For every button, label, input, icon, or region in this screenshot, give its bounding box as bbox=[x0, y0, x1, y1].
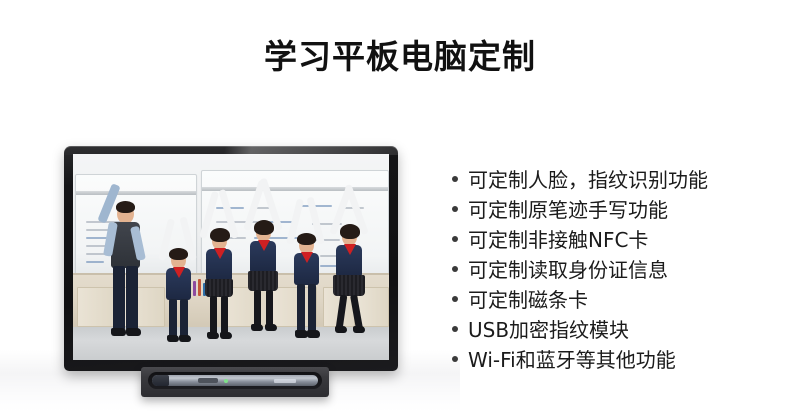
stylus-led-indicator bbox=[224, 379, 228, 383]
whiteboard-rail bbox=[202, 187, 388, 191]
bullet-dot-icon bbox=[452, 266, 458, 272]
list-item: 可定制磁条卡 bbox=[452, 285, 796, 315]
teacher-shoe-right bbox=[126, 328, 141, 336]
list-item: 可定制读取身份证信息 bbox=[452, 255, 796, 285]
student-leg-left bbox=[254, 290, 261, 326]
student-leg-right bbox=[308, 284, 316, 332]
student-hair bbox=[254, 220, 274, 235]
student-leg-right bbox=[180, 299, 188, 337]
stylus-button[interactable] bbox=[198, 378, 218, 383]
teacher-hair bbox=[116, 201, 135, 213]
student-shoe-right bbox=[307, 330, 320, 338]
person-student-1 bbox=[161, 246, 195, 346]
bullet-dot-icon bbox=[452, 176, 458, 182]
student-hair bbox=[210, 228, 230, 242]
student-hair bbox=[169, 248, 188, 260]
device-screen[interactable] bbox=[73, 154, 389, 360]
bullet-dot-icon bbox=[452, 356, 458, 362]
person-student-5 bbox=[331, 220, 367, 344]
page-title: 学习平板电脑定制 bbox=[0, 36, 800, 78]
student-leg-left bbox=[169, 299, 177, 337]
feature-label: 可定制磁条卡 bbox=[468, 285, 588, 315]
device-stand[interactable] bbox=[141, 367, 329, 397]
student-leg-left bbox=[210, 296, 217, 334]
student-shoe-left bbox=[207, 332, 219, 339]
person-student-3 bbox=[245, 216, 281, 342]
list-item: 可定制原笔迹手写功能 bbox=[452, 195, 796, 225]
student-shoe-right bbox=[265, 324, 277, 331]
list-item: USB加密指纹模块 bbox=[452, 315, 796, 345]
student-skirt bbox=[248, 271, 278, 291]
teacher-leg-right bbox=[126, 266, 138, 330]
feature-label: 可定制原笔迹手写功能 bbox=[468, 195, 668, 225]
person-student-4 bbox=[289, 230, 323, 346]
stylus-tip bbox=[152, 375, 169, 386]
list-item: 可定制人脸，指纹识别功能 bbox=[452, 165, 796, 195]
student-shoe-left bbox=[335, 326, 347, 333]
feature-label: 可定制非接触NFC卡 bbox=[468, 225, 648, 255]
feature-label: USB加密指纹模块 bbox=[468, 315, 629, 345]
stylus-pen[interactable] bbox=[152, 375, 318, 386]
list-item: 可定制非接触NFC卡 bbox=[452, 225, 796, 255]
tablet-device[interactable] bbox=[64, 146, 398, 371]
bullet-dot-icon bbox=[452, 296, 458, 302]
student-shoe-right bbox=[179, 335, 191, 342]
person-student-2 bbox=[201, 224, 237, 346]
list-item: Wi-Fi和蓝牙等其他功能 bbox=[452, 345, 796, 375]
student-leg-right bbox=[350, 295, 363, 330]
bullet-dot-icon bbox=[452, 206, 458, 212]
student-leg-right bbox=[221, 296, 228, 334]
student-shoe-right bbox=[353, 326, 365, 333]
stylus-slot bbox=[148, 372, 322, 389]
person-teacher bbox=[103, 182, 147, 342]
student-leg-left bbox=[336, 295, 348, 330]
student-hair bbox=[297, 233, 316, 245]
teacher-shoe-left bbox=[111, 328, 126, 336]
student-shoe-left bbox=[251, 324, 263, 331]
device-bezel bbox=[64, 146, 398, 371]
student-shoe-right bbox=[220, 332, 232, 339]
bullet-dot-icon bbox=[452, 236, 458, 242]
feature-label: 可定制读取身份证信息 bbox=[468, 255, 668, 285]
bullet-dot-icon bbox=[452, 326, 458, 332]
teacher-leg-left bbox=[113, 266, 125, 330]
classroom-photo bbox=[73, 154, 389, 360]
stylus-branding bbox=[274, 379, 296, 383]
feature-list: 可定制人脸，指纹识别功能 可定制原笔迹手写功能 可定制非接触NFC卡 可定制读取… bbox=[452, 165, 796, 375]
slide-canvas: 学习平板电脑定制 bbox=[0, 0, 800, 412]
feature-label: 可定制人脸，指纹识别功能 bbox=[468, 165, 708, 195]
student-shoe-left bbox=[167, 335, 179, 342]
whiteboard-ink bbox=[86, 261, 104, 263]
student-skirt bbox=[333, 275, 365, 296]
feature-label: Wi-Fi和蓝牙等其他功能 bbox=[468, 345, 676, 375]
student-skirt bbox=[205, 279, 233, 297]
student-leg-right bbox=[266, 290, 273, 326]
student-leg-left bbox=[297, 284, 305, 332]
student-hair bbox=[340, 224, 360, 239]
